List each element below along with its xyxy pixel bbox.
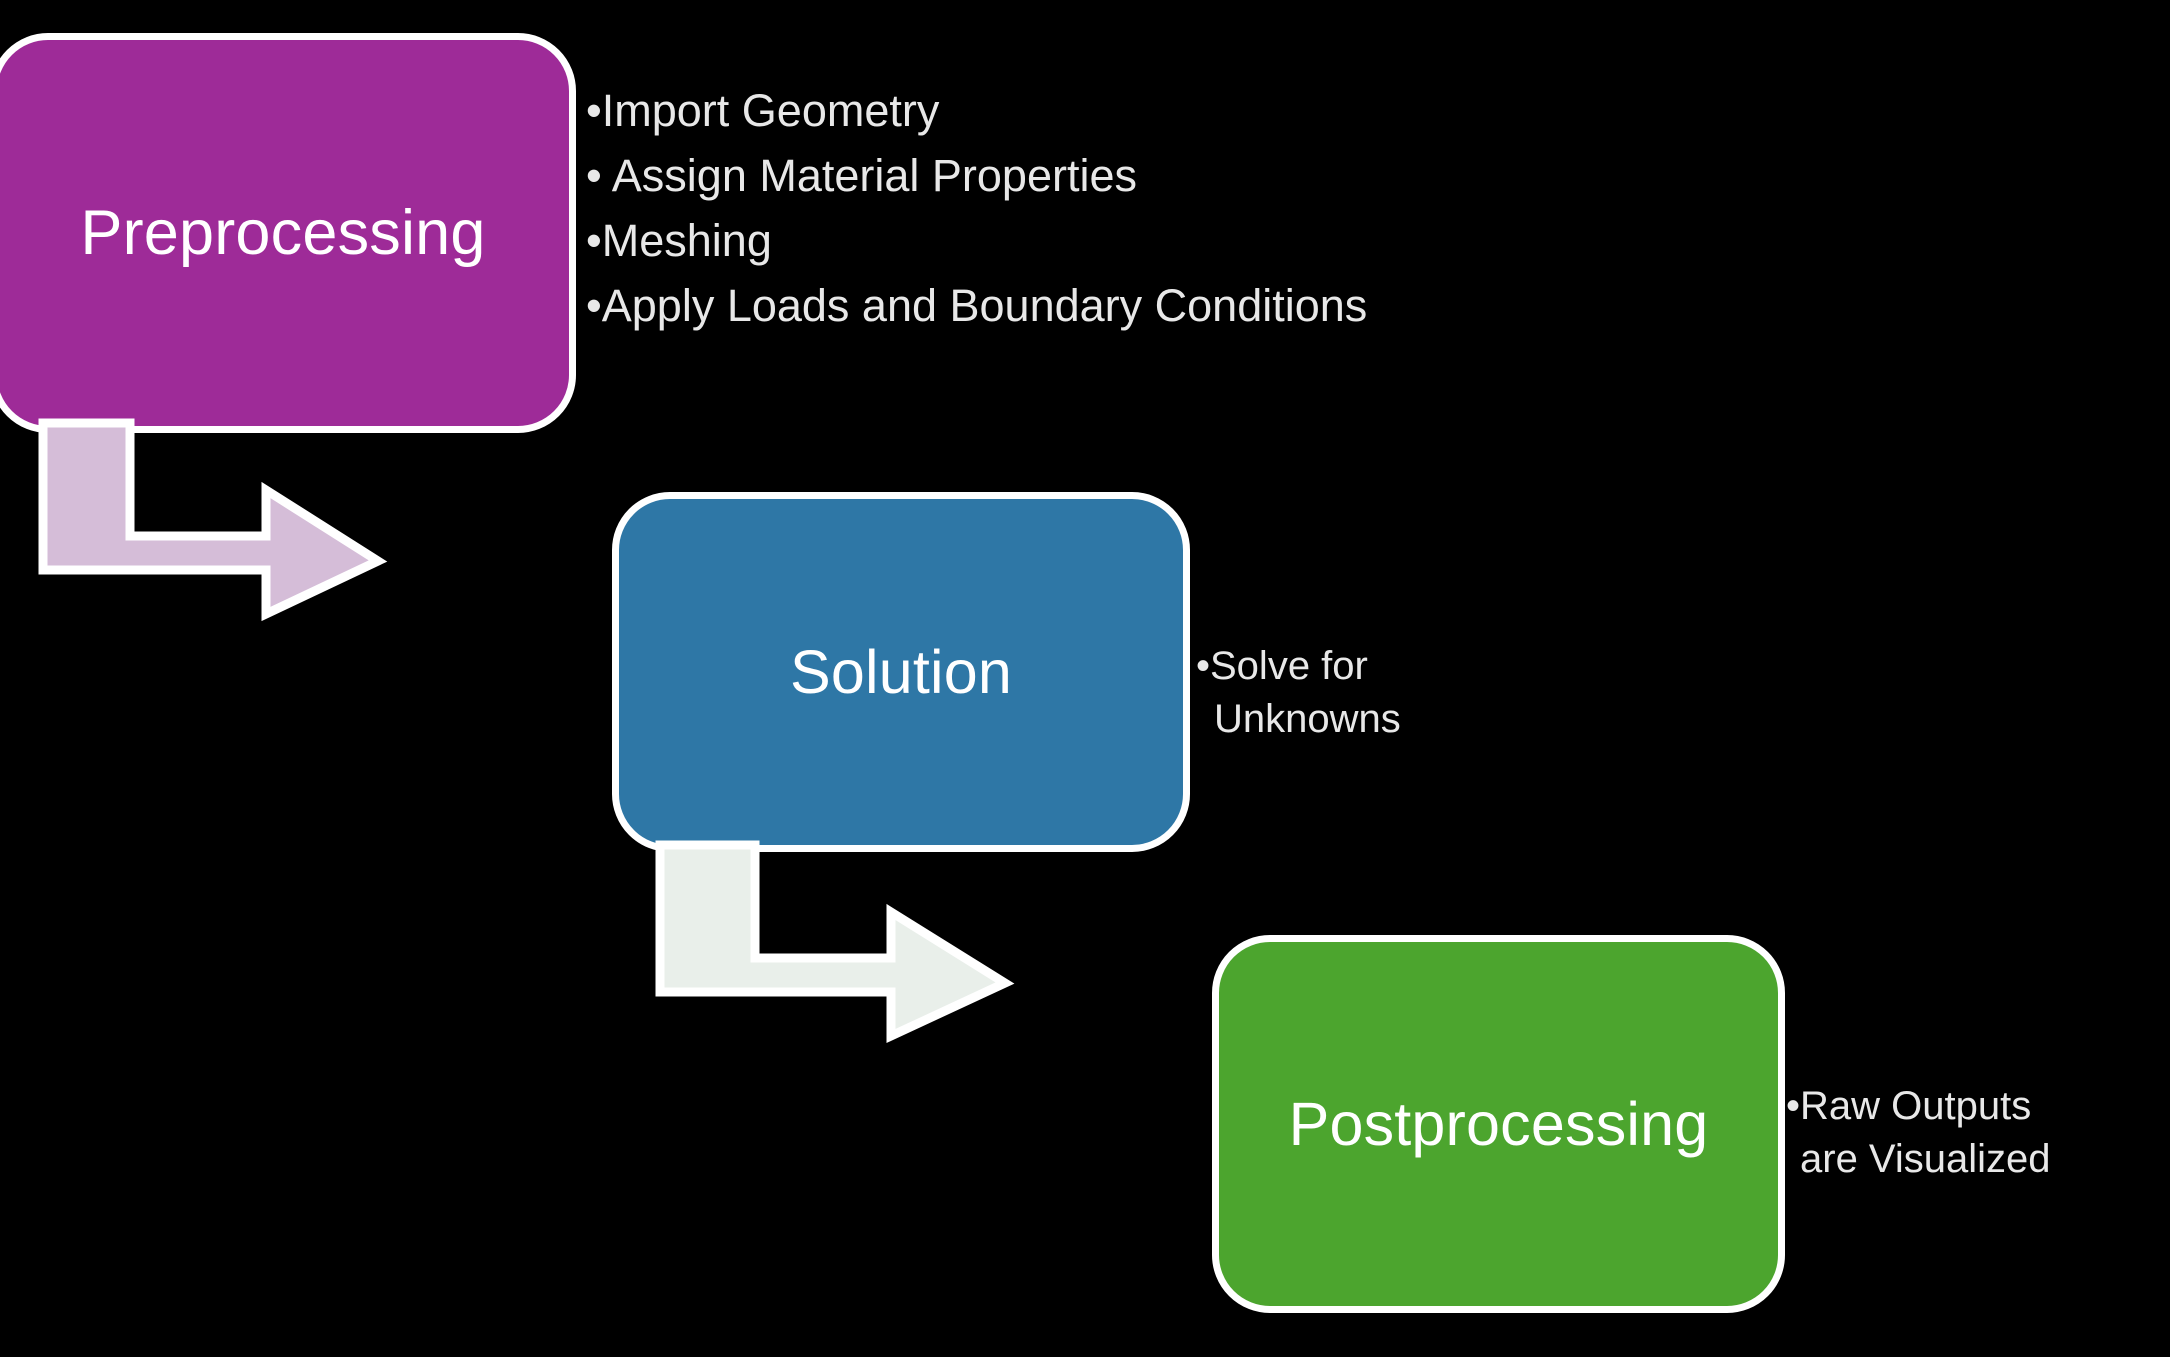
- bullet-item: are Visualized: [1786, 1133, 2051, 1186]
- bullet-list-postprocessing: •Raw Outputs are Visualized: [1786, 1080, 2051, 1186]
- bullet-item: •Apply Loads and Boundary Conditions: [586, 273, 1367, 338]
- bullet-item: •Raw Outputs: [1786, 1080, 2051, 1133]
- bullet-item: •Import Geometry: [586, 78, 1367, 143]
- bullet-list-solution: •Solve for Unknowns: [1196, 640, 1401, 746]
- stage-label-preprocessing: Preprocessing: [80, 197, 485, 269]
- bullet-item: • Assign Material Properties: [586, 143, 1367, 208]
- bullet-item: Unknowns: [1196, 693, 1401, 746]
- diagram-canvas: Preprocessing •Import Geometry • Assign …: [0, 0, 2170, 1357]
- stage-box-preprocessing[interactable]: Preprocessing: [0, 33, 576, 433]
- bullet-item: •Meshing: [586, 208, 1367, 273]
- stage-label-postprocessing: Postprocessing: [1289, 1089, 1709, 1159]
- elbow-arrow-shape: [660, 845, 1005, 1036]
- stage-box-postprocessing[interactable]: Postprocessing: [1212, 935, 1785, 1313]
- connector-solution-to-postprocessing: [655, 840, 1045, 1040]
- bullet-list-preprocessing: •Import Geometry • Assign Material Prope…: [586, 78, 1367, 338]
- connector-preprocessing-to-solution: [38, 418, 418, 618]
- bullet-item: •Solve for: [1196, 640, 1401, 693]
- stage-box-solution[interactable]: Solution: [612, 492, 1190, 852]
- stage-label-solution: Solution: [790, 637, 1012, 707]
- elbow-arrow-shape: [43, 423, 378, 614]
